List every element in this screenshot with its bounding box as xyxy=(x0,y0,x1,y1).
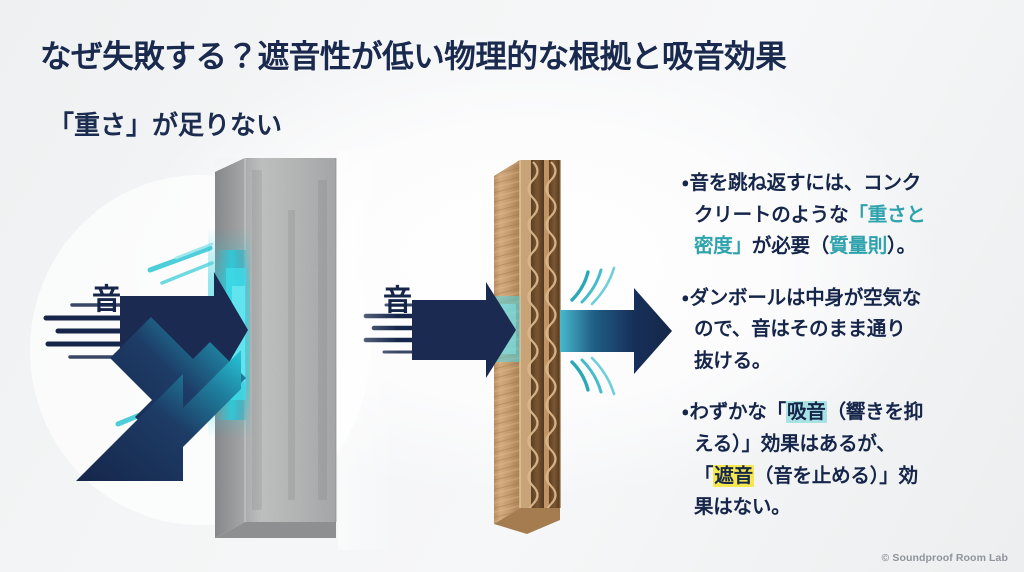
bullet-1-emphasis-open: 「重さと xyxy=(848,204,925,226)
list-item: ・わずかな「吸音（響きを抑 える）」効果はあるが、 「遮音（音を止める）」効 果… xyxy=(682,397,1012,523)
bullet-3-line-3-open: 「 xyxy=(694,465,713,487)
sound-wave-upper xyxy=(572,268,614,304)
bullet-3-line-1-plain: わずかな「 xyxy=(689,401,786,423)
bullet-1-line-3-tail: ）。 xyxy=(887,235,916,257)
bullet-1-emphasis-law: 質量則 xyxy=(829,235,887,257)
sound-label-right: 音 xyxy=(383,277,412,319)
impact-streaks-upper xyxy=(150,244,212,283)
explanation-list: ・音を跳ね返すには、コンク クリートのような「重さと 密度」が必要（質量則）。 … xyxy=(682,168,1012,524)
reflected-sound-arrow xyxy=(110,317,246,453)
sound-wave-lower xyxy=(572,358,614,394)
sound-label-left: 音 xyxy=(92,276,121,318)
copyright-credit: © Soundproof Room Lab xyxy=(882,552,1009,564)
impact-streaks-lower xyxy=(118,392,200,449)
list-item: ・ダンボールは中身が空気な ので、音はそのまま通り 抜ける。 xyxy=(682,283,1012,378)
bullet-1-line-2-plain: クリートのような xyxy=(694,204,848,226)
bullet-marker: ・ xyxy=(682,172,688,194)
transmitted-sound-arrow xyxy=(560,288,672,374)
section-subtitle: 「重さ」が足りない xyxy=(48,105,282,142)
cardboard-illustration xyxy=(494,160,560,534)
bullet-2-line-1: ダンボールは中身が空気な xyxy=(689,287,921,309)
insulation-highlight: 遮音 xyxy=(713,465,754,487)
incoming-sound-arrow-left xyxy=(120,272,248,388)
bullet-3-line-3-tail: （音を止める）」効 xyxy=(754,465,918,487)
bullet-1-line-3-plain: が必要（ xyxy=(752,235,829,257)
slide-root: なぜ失敗する？遮音性が低い物理的な根拠と吸音効果 「重さ」が足りない xyxy=(0,0,1024,572)
page-title: なぜ失敗する？遮音性が低い物理的な根拠と吸音効果 xyxy=(40,31,786,77)
bullet-1-line-1: 音を跳ね返すには、コンク xyxy=(689,172,921,194)
bullet-2-line-3: 抜ける。 xyxy=(694,350,771,372)
bullet-marker: ・ xyxy=(682,287,688,309)
reflected-arrow-body xyxy=(74,340,272,508)
concrete-wall-illustration xyxy=(30,158,370,538)
impact-glow-right xyxy=(486,296,520,362)
absorption-highlight: 吸音 xyxy=(786,401,827,423)
bullet-2-line-2: ので、音はそのまま通り xyxy=(694,318,906,340)
bullet-marker: ・ xyxy=(682,401,688,423)
list-item: ・音を跳ね返すには、コンク クリートのような「重さと 密度」が必要（質量則）。 xyxy=(682,168,1012,263)
speed-lines-right xyxy=(366,305,464,352)
incoming-sound-arrow-right xyxy=(412,282,516,378)
bullet-1-emphasis-close: 密度」 xyxy=(694,235,752,257)
impact-glow-left xyxy=(208,228,250,438)
bullet-3-line-1-tail: （響きを抑 xyxy=(827,401,924,423)
bullet-3-line-4: 果はない。 xyxy=(694,496,791,518)
bullet-3-line-2: える）」効果はあるが、 xyxy=(694,433,896,455)
